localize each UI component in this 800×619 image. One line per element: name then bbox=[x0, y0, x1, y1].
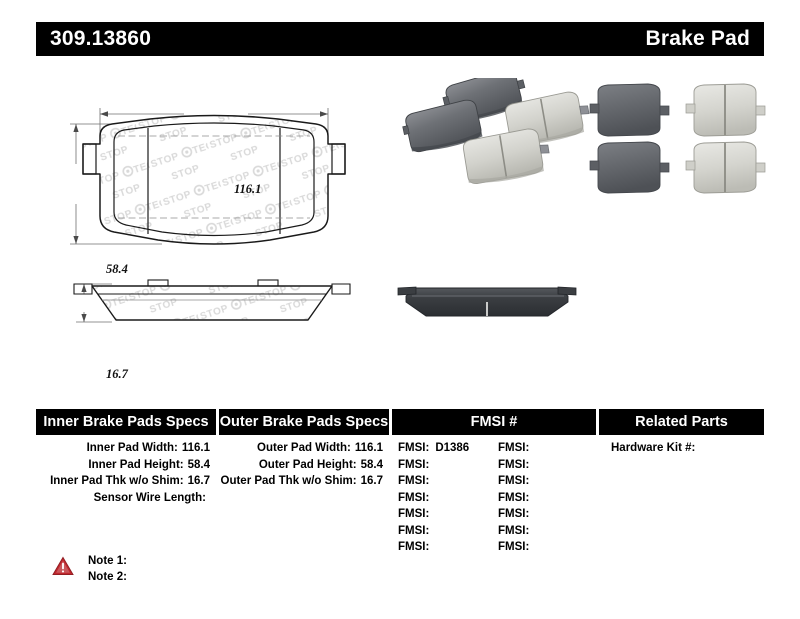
spec-row: Outer Pad Width:116.1 bbox=[219, 440, 383, 457]
note-row: Note 1: bbox=[88, 553, 127, 569]
spec-value: 16.7 bbox=[188, 475, 210, 487]
spec-label: Outer Pad Height: bbox=[259, 459, 357, 471]
product-photo-edge-view bbox=[392, 270, 582, 335]
fmsi-column-left: FMSI:D1386 FMSI: FMSI: FMSI: FMSI: bbox=[398, 440, 498, 556]
spec-label: Inner Pad Height: bbox=[88, 459, 183, 471]
fmsi-label: FMSI: bbox=[498, 459, 529, 471]
dimension-thickness-label: 16.7 bbox=[106, 367, 128, 382]
spec-label: Outer Pad Thk w/o Shim: bbox=[221, 475, 357, 487]
spec-value: 58.4 bbox=[361, 459, 383, 471]
note-row: Note 2: bbox=[88, 569, 127, 585]
fmsi-label: FMSI: bbox=[398, 508, 429, 520]
technical-drawing: STOP TECH STOP bbox=[62, 98, 402, 358]
fmsi-label: FMSI: bbox=[498, 442, 529, 454]
fmsi-row: FMSI: bbox=[398, 506, 498, 523]
fmsi-row: FMSI: bbox=[498, 490, 598, 507]
table-body-row: Inner Pad Width:116.1 Inner Pad Height:5… bbox=[36, 435, 764, 556]
fmsi-row: FMSI: bbox=[498, 473, 598, 490]
fmsi-column-right: FMSI: FMSI: FMSI: FMSI: FMSI: bbox=[498, 440, 598, 556]
fmsi-label: FMSI: bbox=[498, 541, 529, 553]
fmsi-label: FMSI: bbox=[398, 492, 429, 504]
spec-value: 16.7 bbox=[361, 475, 383, 487]
fmsi-row: FMSI: bbox=[498, 440, 598, 457]
fmsi-cell: FMSI:D1386 FMSI: FMSI: FMSI: FMSI: bbox=[392, 440, 599, 556]
fmsi-label: FMSI: bbox=[498, 475, 529, 487]
fmsi-label: FMSI: bbox=[498, 508, 529, 520]
note-label: Note 2: bbox=[88, 571, 127, 583]
fmsi-label: FMSI: bbox=[398, 525, 429, 537]
spec-row: Outer Pad Height:58.4 bbox=[219, 457, 383, 474]
fmsi-label: FMSI: bbox=[398, 459, 429, 471]
spec-row: Sensor Wire Length: bbox=[36, 490, 210, 507]
dimension-height-label: 58.4 bbox=[106, 262, 128, 277]
fmsi-label: FMSI: bbox=[398, 475, 429, 487]
fmsi-label: FMSI: bbox=[398, 541, 429, 553]
spec-value: 116.1 bbox=[182, 442, 210, 454]
fmsi-row: FMSI: bbox=[398, 539, 498, 556]
notes-block: Note 1: Note 2: bbox=[52, 553, 127, 585]
fmsi-row: FMSI: bbox=[398, 523, 498, 540]
specifications-table: Inner Brake Pads Specs Outer Brake Pads … bbox=[36, 409, 764, 556]
fmsi-row: FMSI: bbox=[398, 490, 498, 507]
spec-row: Inner Pad Thk w/o Shim:16.7 bbox=[36, 473, 210, 490]
spec-label: Inner Pad Width: bbox=[87, 442, 178, 454]
notes-text-group: Note 1: Note 2: bbox=[88, 553, 127, 585]
product-illustration-area: STOP TECH STOP bbox=[36, 70, 764, 390]
table-header-inner-specs: Inner Brake Pads Specs bbox=[36, 409, 219, 435]
fmsi-label: FMSI: bbox=[498, 492, 529, 504]
spec-row: Inner Pad Width:116.1 bbox=[36, 440, 210, 457]
fmsi-row: FMSI: bbox=[498, 539, 598, 556]
dimension-width-label: 116.1 bbox=[234, 182, 261, 197]
warning-triangle-icon bbox=[52, 556, 74, 576]
related-parts-row: Hardware Kit #: bbox=[599, 440, 764, 457]
fmsi-row: FMSI: bbox=[498, 523, 598, 540]
spec-value: 58.4 bbox=[188, 459, 210, 471]
pad-side-view bbox=[62, 268, 402, 348]
product-photo-flat-grid bbox=[584, 80, 774, 200]
spec-value: 116.1 bbox=[355, 442, 383, 454]
fmsi-label: FMSI: bbox=[498, 525, 529, 537]
page-title: Brake Pad bbox=[645, 27, 750, 51]
spec-label: Sensor Wire Length: bbox=[94, 492, 206, 504]
spec-label: Inner Pad Thk w/o Shim: bbox=[50, 475, 184, 487]
outer-specs-cell: Outer Pad Width:116.1 Outer Pad Height:5… bbox=[219, 440, 392, 490]
fmsi-row: FMSI: bbox=[398, 457, 498, 474]
fmsi-row: FMSI: bbox=[498, 457, 598, 474]
table-header-row: Inner Brake Pads Specs Outer Brake Pads … bbox=[36, 409, 764, 435]
header-bar: 309.13860 Brake Pad bbox=[36, 22, 764, 56]
product-photo-angled-group bbox=[396, 78, 596, 203]
fmsi-value: D1386 bbox=[435, 442, 469, 454]
fmsi-row: FMSI: bbox=[498, 506, 598, 523]
table-header-outer-specs: Outer Brake Pads Specs bbox=[219, 409, 392, 435]
table-header-fmsi: FMSI # bbox=[392, 409, 599, 435]
spec-label: Outer Pad Width: bbox=[257, 442, 351, 454]
fmsi-row: FMSI:D1386 bbox=[398, 440, 498, 457]
table-header-related-parts: Related Parts bbox=[599, 409, 764, 435]
related-parts-label: Hardware Kit #: bbox=[611, 442, 695, 454]
fmsi-label: FMSI: bbox=[398, 442, 429, 454]
related-parts-cell: Hardware Kit #: bbox=[599, 440, 764, 457]
part-number: 309.13860 bbox=[50, 27, 151, 51]
inner-specs-cell: Inner Pad Width:116.1 Inner Pad Height:5… bbox=[36, 440, 219, 506]
spec-row: Outer Pad Thk w/o Shim:16.7 bbox=[219, 473, 383, 490]
note-label: Note 1: bbox=[88, 555, 127, 567]
spec-row: Inner Pad Height:58.4 bbox=[36, 457, 210, 474]
fmsi-row: FMSI: bbox=[398, 473, 498, 490]
